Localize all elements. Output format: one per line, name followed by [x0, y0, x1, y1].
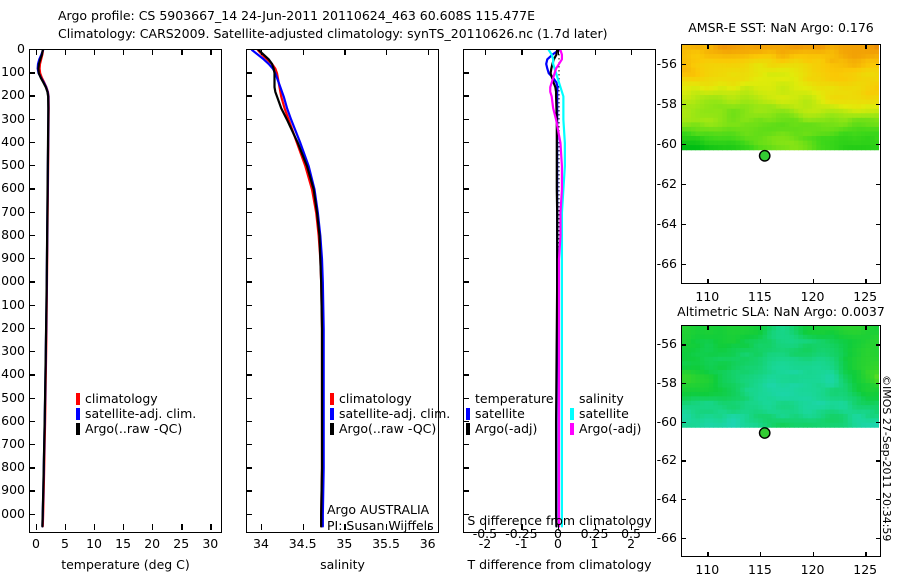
temperature-y-tick: 1100	[0, 297, 25, 312]
y-tick-mark	[246, 95, 252, 96]
x-tick-mark-top	[181, 49, 182, 55]
s-tick-mark	[521, 49, 522, 55]
y-tick-mark	[29, 235, 35, 236]
y-tick-mark	[463, 281, 469, 282]
y-tick-mark-r	[876, 104, 881, 105]
legend-swatch	[466, 423, 470, 435]
legend-row: climatology	[330, 391, 450, 406]
y-tick-mark-r	[876, 224, 881, 225]
difference-s-axis-label: S difference from climatology	[463, 513, 656, 528]
x-tick-mark-top	[760, 44, 761, 49]
sla-y-tick: -62	[645, 452, 677, 467]
temperature-y-tick: 300	[0, 111, 25, 126]
legend-label: Argo(..raw -QC)	[85, 421, 182, 436]
temperature-y-tick: 700	[0, 204, 25, 219]
y-tick-mark	[246, 119, 252, 120]
x-tick-mark-top	[303, 49, 304, 55]
x-tick-mark-top	[813, 44, 814, 49]
x-tick-mark-top	[865, 44, 866, 49]
y-tick-mark	[463, 374, 469, 375]
legend-label: satellite	[579, 406, 629, 421]
legend-swatch	[330, 423, 334, 435]
sla-y-tick: -64	[645, 491, 677, 506]
y-tick-mark	[681, 383, 686, 384]
y-tick-mark	[681, 224, 686, 225]
difference-plot-area	[464, 50, 654, 531]
sst-y-tick: -56	[645, 56, 677, 71]
y-tick-mark	[246, 421, 252, 422]
y-tick-mark	[246, 165, 252, 166]
argo-profile-figure: Argo profile: CS 5903667_14 24-Jun-2011 …	[0, 0, 900, 580]
sst-y-tick: -58	[645, 96, 677, 111]
legend-row: Argo(..raw -QC)	[76, 421, 196, 436]
y-tick-mark	[29, 514, 35, 515]
y-tick-mark	[463, 351, 469, 352]
sst-y-tick: -62	[645, 176, 677, 191]
legend-label: Argo(-adj)	[579, 421, 641, 436]
y-tick-mark	[463, 142, 469, 143]
y-tick-mark	[29, 398, 35, 399]
temperature-y-tick: 200	[0, 87, 25, 102]
x-tick-mark	[36, 524, 37, 530]
salinity-x-tick: 36	[406, 536, 450, 551]
y-tick-mark	[246, 374, 252, 375]
difference-t-axis-label: T difference from climatology	[463, 557, 656, 572]
x-tick-mark-top	[707, 44, 708, 49]
y-tick-mark-r	[876, 64, 881, 65]
y-tick-mark	[246, 188, 252, 189]
y-tick-mark	[246, 142, 252, 143]
difference-profile-panel	[463, 49, 656, 533]
y-tick-mark	[29, 72, 35, 73]
s-tick-mark	[631, 49, 632, 55]
y-tick-mark	[29, 165, 35, 166]
y-tick-mark	[463, 188, 469, 189]
x-tick-mark-top	[813, 325, 814, 330]
salinity-x-axis-label: salinity	[246, 557, 439, 572]
y-tick-mark	[681, 144, 686, 145]
legend-row: Argo(-adj)	[466, 421, 554, 436]
temperature-y-tick: 100	[0, 64, 25, 79]
y-tick-mark	[246, 444, 252, 445]
x-tick-mark-top	[152, 49, 153, 55]
y-tick-mark	[463, 490, 469, 491]
y-tick-mark	[29, 490, 35, 491]
salinity-x-tick: 34	[239, 536, 283, 551]
x-tick-mark-top	[94, 49, 95, 55]
y-tick-mark	[29, 258, 35, 259]
x-tick-mark	[865, 279, 866, 284]
temperature-y-tick: 1900	[0, 482, 25, 497]
altimetric-sla-map-panel	[681, 325, 881, 557]
salinity-plot-area	[247, 50, 437, 531]
legend-label: satellite-adj. clim.	[85, 406, 196, 421]
x-tick-mark-top	[865, 325, 866, 330]
difference-salinity-legend: salinitysatelliteArgo(-adj)	[570, 391, 641, 436]
sst-heatmap	[682, 45, 879, 282]
salinity-x-tick: 35.5	[364, 536, 408, 551]
x-tick-mark	[123, 524, 124, 530]
sla-x-tick: 110	[687, 562, 727, 577]
temperature-legend: climatologysatellite-adj. clim.Argo(..ra…	[76, 391, 196, 436]
x-tick-mark-top	[707, 325, 708, 330]
legend-label: Argo(..raw -QC)	[339, 421, 436, 436]
x-tick-mark-top	[261, 49, 262, 55]
temperature-y-tick: 600	[0, 180, 25, 195]
y-tick-mark	[246, 258, 252, 259]
y-tick-mark	[29, 142, 35, 143]
y-tick-mark	[29, 281, 35, 282]
y-tick-mark	[29, 188, 35, 189]
y-tick-mark	[463, 72, 469, 73]
sla-y-tick: -58	[645, 375, 677, 390]
y-tick-mark	[681, 264, 686, 265]
legend-heading: temperature	[466, 391, 554, 406]
sst-y-tick: -66	[645, 256, 677, 271]
x-tick-mark	[813, 279, 814, 284]
x-tick-mark	[94, 524, 95, 530]
y-tick-mark	[463, 328, 469, 329]
sst-map-title: AMSR-E SST: NaN Argo: 0.176	[676, 20, 886, 35]
legend-row: satellite-adj. clim.	[76, 406, 196, 421]
sst-y-tick: -64	[645, 216, 677, 231]
copyright-label: ©IMOS 27-Sep-2011 20:34:59	[880, 375, 893, 541]
legend-label: satellite	[475, 406, 525, 421]
sst-x-tick: 115	[740, 289, 780, 304]
y-tick-mark	[463, 444, 469, 445]
x-tick-mark-top	[386, 49, 387, 55]
sla-heatmap	[682, 326, 879, 555]
principal-investigator: PI: Susan Wijffels	[327, 518, 434, 534]
temperature-y-tick: 1700	[0, 436, 25, 451]
institution-name: Argo AUSTRALIA	[327, 502, 434, 518]
figure-title-line-1: Argo profile: CS 5903667_14 24-Jun-2011 …	[58, 8, 535, 23]
x-tick-mark	[261, 524, 262, 530]
salinity-x-tick: 34.5	[281, 536, 325, 551]
x-tick-mark	[865, 552, 866, 557]
s-tick-mark	[485, 49, 486, 55]
y-tick-mark	[463, 119, 469, 120]
legend-label: climatology	[339, 391, 412, 406]
sla-map-title: Altimetric SLA: NaN Argo: 0.0037	[676, 304, 886, 319]
y-tick-mark-r	[876, 344, 881, 345]
amsr-e-sst-map-panel	[681, 44, 881, 284]
x-tick-mark-top	[65, 49, 66, 55]
sst-x-tick: 110	[687, 289, 727, 304]
legend-swatch	[76, 423, 80, 435]
legend-heading: salinity	[570, 391, 641, 406]
s-tick-mark	[558, 49, 559, 55]
y-tick-mark	[246, 514, 252, 515]
x-tick-mark-top	[344, 49, 345, 55]
legend-row: climatology	[76, 391, 196, 406]
difference-temperature-legend: temperaturesatelliteArgo(-adj)	[466, 391, 554, 436]
y-tick-mark	[246, 467, 252, 468]
x-tick-mark	[210, 524, 211, 530]
legend-row: satellite	[570, 406, 641, 421]
y-tick-mark	[681, 64, 686, 65]
y-tick-mark-r	[876, 264, 881, 265]
y-tick-mark	[681, 184, 686, 185]
y-tick-mark	[29, 49, 35, 50]
legend-row: Argo(..raw -QC)	[330, 421, 450, 436]
y-tick-mark	[463, 467, 469, 468]
y-tick-mark	[246, 72, 252, 73]
temperature-y-tick: 1400	[0, 366, 25, 381]
legend-swatch	[76, 408, 80, 420]
legend-swatch	[330, 408, 334, 420]
y-tick-mark	[463, 49, 469, 50]
temperature-x-tick: 30	[192, 536, 228, 551]
x-tick-mark	[707, 279, 708, 284]
sla-y-tick: -56	[645, 336, 677, 351]
x-tick-mark	[813, 552, 814, 557]
temperature-y-tick: 1300	[0, 343, 25, 358]
y-tick-mark-r	[876, 144, 881, 145]
salinity-x-tick: 35	[322, 536, 366, 551]
y-tick-mark	[463, 212, 469, 213]
temperature-y-tick: 800	[0, 227, 25, 242]
institution-annotation: Argo AUSTRALIA PI: Susan Wijffels	[327, 502, 434, 534]
y-tick-mark	[463, 165, 469, 166]
y-tick-mark	[29, 351, 35, 352]
x-tick-mark	[707, 552, 708, 557]
y-tick-mark	[246, 212, 252, 213]
y-tick-mark	[463, 235, 469, 236]
x-tick-mark	[65, 524, 66, 530]
legend-swatch	[76, 393, 80, 405]
sla-x-tick: 125	[845, 562, 885, 577]
difference-t-tick: -1	[503, 536, 539, 551]
x-tick-mark-top	[36, 49, 37, 55]
x-tick-mark	[152, 524, 153, 530]
legend-swatch	[466, 408, 470, 420]
y-tick-mark	[246, 351, 252, 352]
legend-row: satellite	[466, 406, 554, 421]
sla-y-tick: -60	[645, 414, 677, 429]
s-tick-mark	[595, 49, 596, 55]
y-tick-mark	[246, 305, 252, 306]
sst-y-tick: -60	[645, 136, 677, 151]
salinity-profile-panel	[246, 49, 439, 533]
temperature-y-tick: 1000	[0, 273, 25, 288]
difference-t-tick: 1	[577, 536, 613, 551]
y-tick-mark	[463, 258, 469, 259]
difference-t-tick: -2	[467, 536, 503, 551]
y-tick-mark	[246, 281, 252, 282]
temperature-y-tick: 1800	[0, 459, 25, 474]
legend-row: satellite-adj. clim.	[330, 406, 450, 421]
legend-label: Argo(-adj)	[475, 421, 537, 436]
temperature-profile-panel	[29, 49, 222, 533]
temperature-plot-area	[30, 50, 220, 531]
y-tick-mark	[463, 95, 469, 96]
y-tick-mark	[681, 460, 686, 461]
y-tick-mark	[246, 235, 252, 236]
legend-swatch	[570, 408, 574, 420]
legend-label: satellite-adj. clim.	[339, 406, 450, 421]
x-tick-mark-top	[428, 49, 429, 55]
y-tick-mark	[681, 104, 686, 105]
sst-x-tick: 120	[793, 289, 833, 304]
temperature-y-tick: 2000	[0, 506, 25, 521]
x-tick-mark	[181, 524, 182, 530]
salinity-legend: climatologysatellite-adj. clim.Argo(..ra…	[330, 391, 450, 436]
sst-x-tick: 125	[845, 289, 885, 304]
legend-label: climatology	[85, 391, 158, 406]
sla-y-tick: -66	[645, 530, 677, 545]
y-tick-mark	[681, 499, 686, 500]
temperature-y-tick: 1500	[0, 390, 25, 405]
legend-row: Argo(-adj)	[570, 421, 641, 436]
y-tick-mark	[681, 538, 686, 539]
temperature-y-tick: 1600	[0, 413, 25, 428]
y-tick-mark	[29, 305, 35, 306]
y-tick-mark	[29, 212, 35, 213]
temperature-y-tick: 1200	[0, 320, 25, 335]
y-tick-mark	[681, 422, 686, 423]
y-tick-mark-r	[876, 184, 881, 185]
y-tick-mark	[29, 119, 35, 120]
x-tick-mark-top	[123, 49, 124, 55]
x-tick-mark	[760, 279, 761, 284]
legend-swatch	[330, 393, 334, 405]
y-tick-mark	[681, 344, 686, 345]
x-tick-mark-top	[760, 325, 761, 330]
y-tick-mark	[246, 490, 252, 491]
y-tick-mark	[246, 328, 252, 329]
y-tick-mark	[246, 49, 252, 50]
y-tick-mark	[29, 444, 35, 445]
figure-title-line-2: Climatology: CARS2009. Satellite-adjuste…	[58, 26, 608, 41]
sla-x-tick: 115	[740, 562, 780, 577]
legend-swatch	[570, 423, 574, 435]
difference-t-tick: 2	[613, 536, 649, 551]
x-tick-mark	[760, 552, 761, 557]
difference-t-tick: 0	[540, 536, 576, 551]
y-tick-mark	[246, 398, 252, 399]
sla-x-tick: 120	[793, 562, 833, 577]
temperature-y-tick: 400	[0, 134, 25, 149]
y-tick-mark	[29, 95, 35, 96]
y-tick-mark	[463, 305, 469, 306]
x-tick-mark	[303, 524, 304, 530]
y-tick-mark	[29, 467, 35, 468]
y-tick-mark	[29, 374, 35, 375]
y-tick-mark	[29, 421, 35, 422]
temperature-y-tick: 900	[0, 250, 25, 265]
x-tick-mark-top	[210, 49, 211, 55]
temperature-x-axis-label: temperature (deg C)	[29, 557, 222, 572]
temperature-y-tick: 0	[0, 41, 25, 56]
y-tick-mark	[29, 328, 35, 329]
temperature-y-tick: 500	[0, 157, 25, 172]
